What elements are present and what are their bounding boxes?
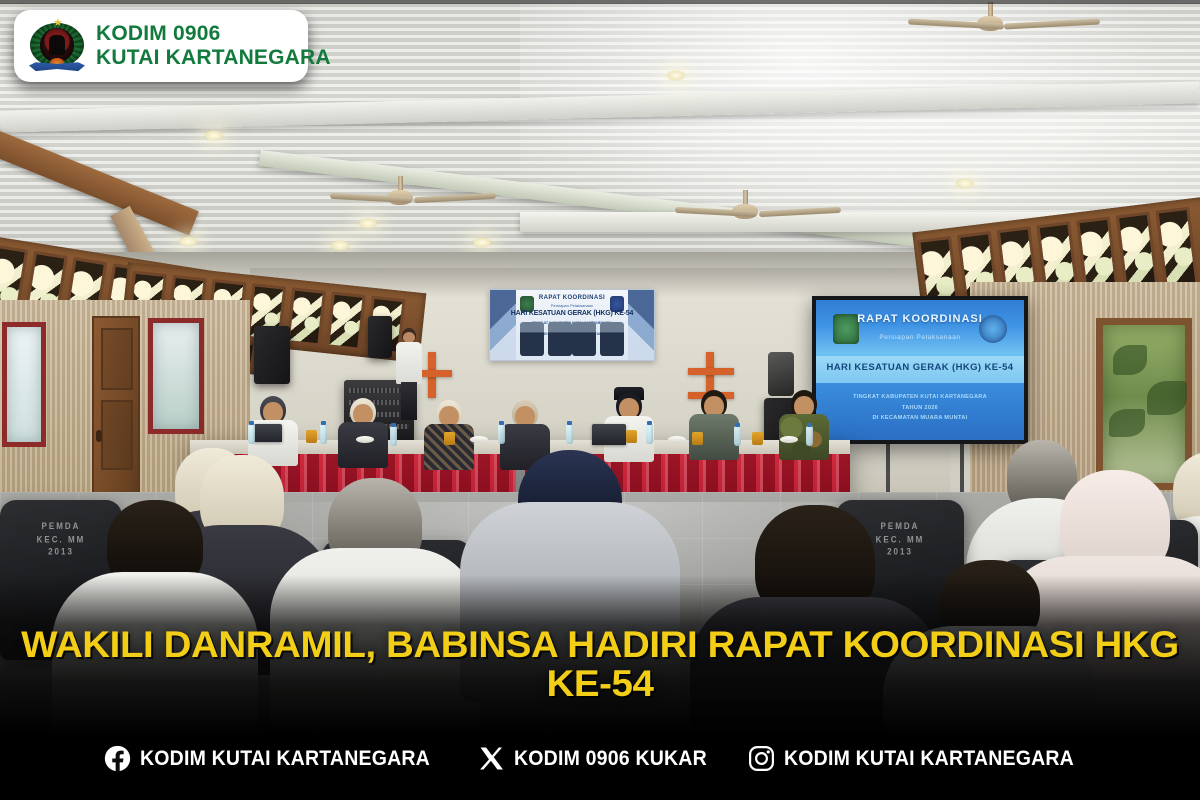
standing-attendee bbox=[396, 328, 422, 418]
water-bottle bbox=[566, 424, 573, 444]
ceiling-downlight bbox=[330, 240, 350, 251]
snack-box bbox=[306, 430, 317, 443]
panel-member-police bbox=[688, 390, 740, 466]
water-bottle bbox=[498, 424, 505, 444]
x-twitter-icon bbox=[478, 745, 505, 772]
water-bottle bbox=[806, 426, 813, 446]
window-left bbox=[2, 322, 46, 447]
banner-title: RAPAT KOORDINASI bbox=[490, 295, 654, 301]
loudspeaker bbox=[368, 316, 392, 358]
top-edge bbox=[0, 0, 1200, 4]
snack-box bbox=[692, 432, 703, 445]
backdrop-banner: RAPAT KOORDINASI Persiapan Pelaksanaan H… bbox=[489, 289, 655, 361]
kodim-crest-icon: ★ bbox=[28, 16, 86, 76]
slide-subtitle: Persiapan Pelaksanaan bbox=[816, 334, 1024, 341]
facebook-handle: KODIM KUTAI KARTANEGARA bbox=[140, 747, 430, 771]
logo-line-2: KUTAI KARTANEGARA bbox=[96, 46, 331, 70]
kodim-logo-badge: ★ KODIM 0906 KUTAI KARTANEGARA bbox=[14, 10, 308, 82]
caption-headline: WAKILI DANRAMIL, BABINSA HADIRI RAPAT KO… bbox=[0, 626, 1200, 704]
instagram-icon bbox=[748, 745, 775, 772]
x-handle: KODIM 0906 KUKAR bbox=[514, 747, 707, 771]
projector-screen: RAPAT KOORDINASI Persiapan Pelaksanaan H… bbox=[812, 296, 1028, 444]
ceiling-downlight bbox=[204, 130, 224, 141]
plate bbox=[470, 436, 488, 443]
logo-line-1: KODIM 0906 bbox=[96, 22, 331, 46]
panel-member-tni bbox=[778, 390, 830, 466]
news-photo-card: RAPAT KOORDINASI Persiapan Pelaksanaan H… bbox=[0, 0, 1200, 800]
banner-highlight: HARI KESATUAN GERAK (HKG) KE-54 bbox=[490, 310, 654, 317]
ceiling-downlight bbox=[178, 236, 198, 247]
snack-box bbox=[444, 432, 455, 445]
water-bottle bbox=[734, 426, 741, 446]
ceiling-downlight bbox=[358, 218, 378, 229]
water-bottle bbox=[320, 424, 327, 444]
social-facebook[interactable]: KODIM KUTAI KARTANEGARA bbox=[104, 745, 452, 772]
ceiling-downlight bbox=[955, 178, 975, 189]
slide-detail-2: TAHUN 2026 bbox=[902, 405, 938, 411]
ceiling-downlight bbox=[472, 237, 492, 248]
slide-highlight: HARI KESATUAN GERAK (HKG) KE-54 bbox=[816, 362, 1024, 373]
slide-title: RAPAT KOORDINASI bbox=[816, 313, 1024, 325]
social-handles-row: KODIM KUTAI KARTANEGARA KODIM 0906 KUKAR… bbox=[0, 745, 1200, 772]
slide-detail-3: DI KECAMATAN MUARA MUNTAI bbox=[873, 415, 968, 421]
snack-box bbox=[752, 432, 763, 445]
laptop bbox=[254, 424, 282, 442]
panel-member bbox=[338, 398, 388, 468]
wall-cross-decor bbox=[688, 368, 734, 375]
plate bbox=[356, 436, 374, 443]
instagram-handle: KODIM KUTAI KARTANEGARA bbox=[784, 747, 1074, 771]
social-instagram[interactable]: KODIM KUTAI KARTANEGARA bbox=[748, 745, 1096, 772]
laptop bbox=[592, 424, 626, 445]
water-bottle bbox=[390, 426, 397, 446]
plate bbox=[668, 436, 686, 443]
slide-detail-1: TINGKAT KABUPATEN KUTAI KARTANEGARA bbox=[853, 394, 987, 400]
snack-box bbox=[626, 430, 637, 443]
water-bottle bbox=[248, 424, 255, 444]
water-bottle bbox=[646, 424, 653, 444]
loudspeaker bbox=[254, 326, 290, 384]
facebook-icon bbox=[104, 745, 131, 772]
ceiling-downlight bbox=[666, 70, 686, 81]
banner-subtitle: Persiapan Pelaksanaan bbox=[490, 303, 654, 308]
window-center-left bbox=[148, 318, 204, 434]
plate bbox=[780, 436, 798, 443]
social-x[interactable]: KODIM 0906 KUKAR bbox=[478, 745, 721, 772]
